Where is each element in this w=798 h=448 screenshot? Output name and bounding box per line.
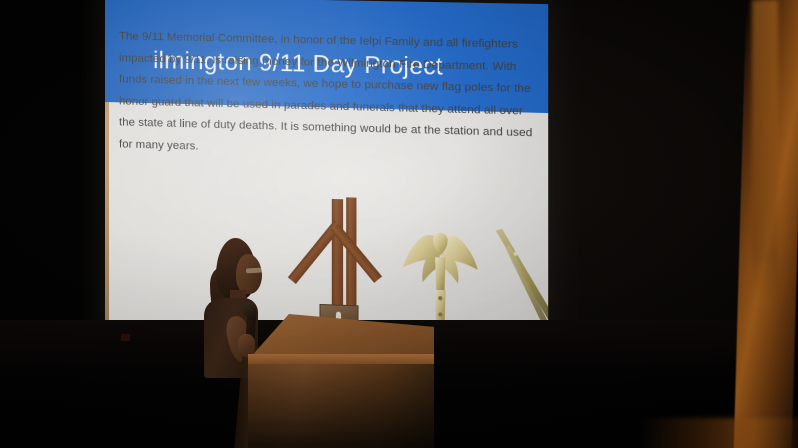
floor-light-glow xyxy=(640,418,798,448)
projection-screen: ilmington 9/11 Day Project The 9/11 Memo… xyxy=(105,0,548,349)
presenter-face xyxy=(236,254,262,294)
wooden-podium xyxy=(248,314,434,448)
column-highlight xyxy=(752,0,778,300)
podium-shadow xyxy=(248,364,434,448)
slide-surface: ilmington 9/11 Day Project The 9/11 Memo… xyxy=(105,0,548,349)
presentation-photo: ilmington 9/11 Day Project The 9/11 Memo… xyxy=(0,0,798,448)
wall-outlet xyxy=(121,334,130,341)
eyeglasses-icon xyxy=(246,268,262,274)
wtc-steel-trident-column-image xyxy=(279,193,402,331)
slide-body-text: The 9/11 Memorial Committee, in honor of… xyxy=(119,26,538,167)
